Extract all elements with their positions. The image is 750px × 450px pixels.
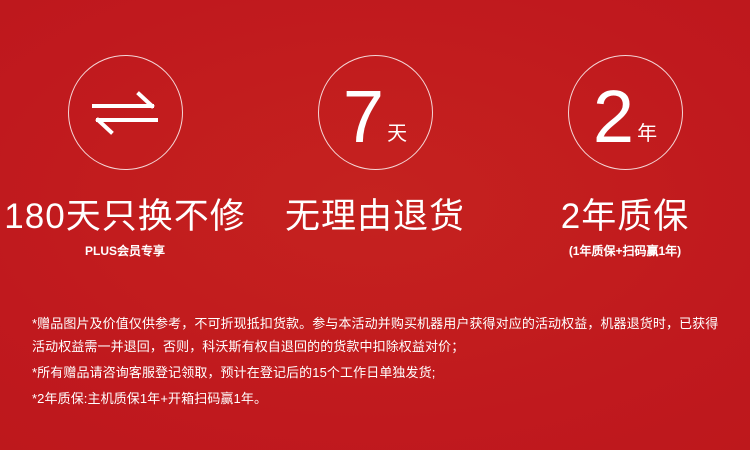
- badge-7-day-return: 7 天 无理由退货: [250, 55, 500, 242]
- badge-number: 7: [343, 84, 383, 149]
- badge-2-year-warranty: 2 年 2年质保 (1年质保+扫码赢1年): [500, 55, 750, 259]
- badges-row: 180天只换不修 PLUS会员专享 7 天 无理由退货 2 年 2年质保: [0, 55, 750, 259]
- fineprint-line: *赠品图片及价值仅供参考，不可折现抵扣货款。参与本活动并购买机器用户获得对应的活…: [32, 312, 722, 358]
- badge-subtitle: (1年质保+扫码赢1年): [569, 242, 681, 259]
- badge-number-group: 7 天: [343, 84, 407, 149]
- exchange-arrows-icon: [92, 91, 158, 135]
- badge-title: 180天只换不修: [4, 198, 245, 237]
- fineprint-line: *2年质保:主机质保1年+开箱扫码赢1年。: [32, 387, 722, 410]
- promo-banner: 180天只换不修 PLUS会员专享 7 天 无理由退货 2 年 2年质保: [0, 0, 750, 450]
- badge-number-group: 2 年: [593, 84, 657, 149]
- badge-circle: 7 天: [318, 55, 433, 170]
- badge-number: 2: [593, 84, 633, 149]
- fineprint-line: *所有赠品请咨询客服登记领取，预计在登记后的15个工作日单独发货;: [32, 361, 722, 384]
- badge-circle: [68, 55, 183, 170]
- badge-subtitle: PLUS会员专享: [85, 242, 165, 259]
- badge-title: 无理由退货: [285, 198, 465, 237]
- badge-180-day-exchange: 180天只换不修 PLUS会员专享: [0, 55, 250, 259]
- badge-title: 2年质保: [561, 198, 689, 237]
- badge-circle: 2 年: [568, 55, 683, 170]
- badge-unit: 年: [637, 124, 657, 144]
- fineprint-block: *赠品图片及价值仅供参考，不可折现抵扣货款。参与本活动并购买机器用户获得对应的活…: [32, 312, 722, 413]
- badge-unit: 天: [387, 124, 407, 144]
